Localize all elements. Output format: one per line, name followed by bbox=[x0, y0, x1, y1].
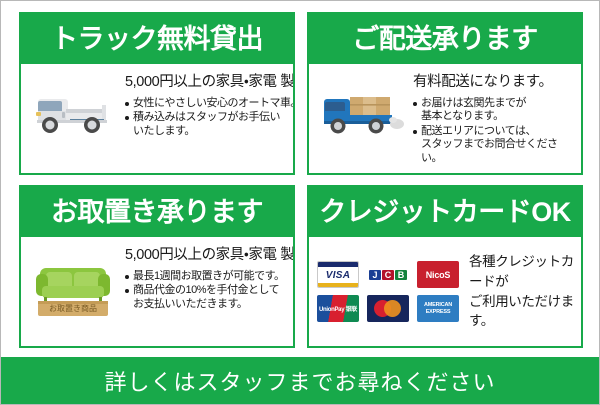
footer-banner: 詳しくはスタッフまでお尋ねください bbox=[1, 357, 599, 404]
panel-credit-card-title: クレジットカードOK bbox=[319, 199, 571, 226]
bullet-item: 積み込みはスタッフがお手伝い いたします。 bbox=[125, 111, 295, 138]
panel-layaway-text: 5,000円以上の家具・家電 製品が対象となります。 最長1週間お取置きが可能で… bbox=[125, 244, 295, 312]
panel-layaway-title: お取置き承ります bbox=[51, 199, 263, 226]
panel-credit-card-body: VISA J C B NicoS UnionPay 银联 AMERICAN EX… bbox=[309, 237, 581, 346]
panel-delivery-header: ご配送承ります bbox=[309, 14, 581, 64]
panel-credit-card-note: 各種クレジットカードが ご利用いただけます。 bbox=[469, 252, 575, 330]
panel-credit-card-header: クレジットカードOK bbox=[309, 187, 581, 237]
bullet-item: 最長1週間お取置きが可能です。 bbox=[125, 270, 295, 284]
footer-banner-text: 詳しくはスタッフまでお尋ねください bbox=[104, 365, 495, 397]
jcb-letter: B bbox=[395, 270, 407, 280]
panel-truck-rental-header: トラック無料貸出 bbox=[21, 14, 293, 64]
panel-delivery-lead: 有料配送になります。 bbox=[413, 73, 575, 92]
panel-truck-rental: トラック無料貸出 bbox=[19, 12, 295, 175]
nicos-card-icon: NicoS bbox=[417, 261, 459, 288]
panel-layaway: お取置き承ります お取置き商品 5,000円以 bbox=[19, 185, 295, 348]
panel-credit-card: クレジットカードOK VISA J C B NicoS UnionPay 银联 bbox=[307, 185, 583, 348]
white-kei-truck-icon bbox=[25, 71, 121, 139]
panel-layaway-header: お取置き承ります bbox=[21, 187, 293, 237]
svg-text:お取置き商品: お取置き商品 bbox=[49, 303, 97, 313]
panel-delivery-text: 有料配送になります。 お届けは玄関先までが 基本となります。 配送エリアについて… bbox=[413, 71, 575, 166]
jcb-letter: C bbox=[382, 270, 394, 280]
mastercard-card-icon bbox=[367, 295, 409, 322]
bullet-item: 商品代金の10%を手付金として お支払いいただきます。 bbox=[125, 284, 295, 311]
blue-delivery-truck-icon bbox=[313, 71, 409, 139]
jcb-letter: J bbox=[369, 270, 381, 280]
panel-delivery-bullets: お届けは玄関先までが 基本となります。 配送エリアについては、 スタッフまでお問… bbox=[413, 97, 575, 166]
unionpay-card-icon: UnionPay 银联 bbox=[317, 295, 359, 322]
panel-delivery-body: 有料配送になります。 お届けは玄関先までが 基本となります。 配送エリアについて… bbox=[309, 64, 581, 173]
panel-truck-rental-lead: 5,000円以上の家具・家電 製品が対象となります。 bbox=[125, 73, 295, 92]
panel-truck-rental-body: 5,000円以上の家具・家電 製品が対象となります。 女性にやさしい安心のオート… bbox=[21, 64, 293, 173]
bullet-item: 配送エリアについては、 スタッフまでお問合せください。 bbox=[413, 125, 575, 166]
bullet-item: 女性にやさしい安心のオートマ車。 bbox=[125, 97, 295, 111]
panel-layaway-body: お取置き商品 5,000円以上の家具・家電 製品が対象となります。 最長1週間お… bbox=[21, 237, 293, 346]
panel-delivery-title: ご配送承ります bbox=[352, 26, 538, 53]
bullet-item: お届けは玄関先までが 基本となります。 bbox=[413, 97, 575, 124]
green-sofa-icon: お取置き商品 bbox=[25, 244, 121, 320]
visa-card-icon: VISA bbox=[317, 261, 359, 288]
panel-layaway-bullets: 最長1週間お取置きが可能です。 商品代金の10%を手付金として お支払いいただき… bbox=[125, 270, 295, 312]
accepted-card-logos: VISA J C B NicoS UnionPay 银联 AMERICAN EX… bbox=[317, 261, 459, 322]
panel-delivery: ご配送承ります bbox=[307, 12, 583, 175]
service-panel-grid: トラック無料貸出 bbox=[19, 12, 583, 348]
panel-truck-rental-text: 5,000円以上の家具・家電 製品が対象となります。 女性にやさしい安心のオート… bbox=[125, 71, 295, 139]
visa-card-label: VISA bbox=[326, 267, 351, 283]
panel-truck-rental-bullets: 女性にやさしい安心のオートマ車。 積み込みはスタッフがお手伝い いたします。 bbox=[125, 97, 295, 139]
amex-card-icon: AMERICAN EXPRESS bbox=[417, 295, 459, 322]
panel-layaway-lead: 5,000円以上の家具・家電 製品が対象となります。 bbox=[125, 246, 295, 265]
jcb-card-icon: J C B bbox=[367, 261, 409, 288]
panel-truck-rental-title: トラック無料貸出 bbox=[51, 26, 263, 53]
